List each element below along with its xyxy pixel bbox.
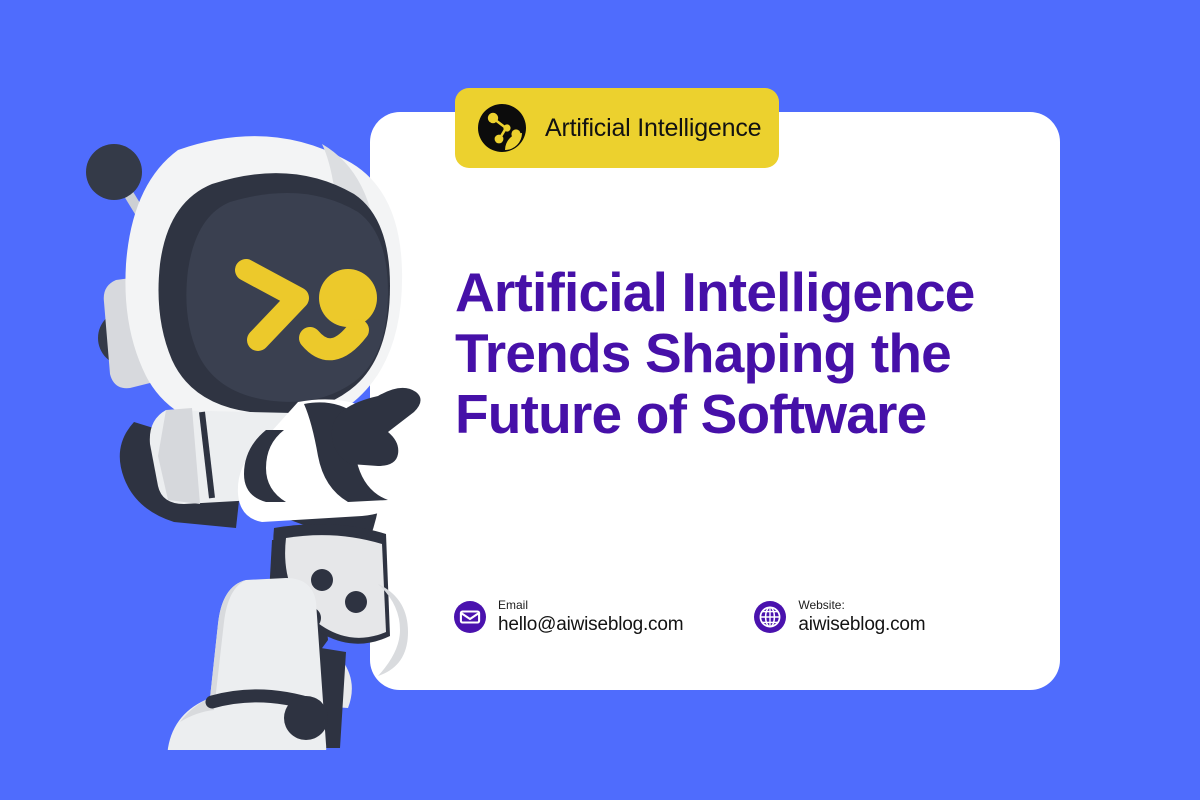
envelope-icon <box>453 600 487 634</box>
contact-email-text: Email hello@aiwiseblog.com <box>498 598 683 637</box>
banner-canvas: Artificial Intelligence Artificial Intel… <box>0 0 1200 800</box>
contact-email-value: hello@aiwiseblog.com <box>498 613 683 637</box>
contact-email[interactable]: Email hello@aiwiseblog.com <box>453 598 683 637</box>
contact-email-label: Email <box>498 598 683 613</box>
page-title: Artificial Intelligence Trends Shaping t… <box>455 262 1000 445</box>
contact-website-text: Website: aiwiseblog.com <box>798 598 925 637</box>
astronaut-robot-mascot <box>60 110 460 750</box>
globe-icon <box>753 600 787 634</box>
category-badge-label: Artificial Intelligence <box>545 114 761 143</box>
contact-row: Email hello@aiwiseblog.com Website: aiwi… <box>453 598 925 637</box>
contact-website[interactable]: Website: aiwiseblog.com <box>753 598 925 637</box>
contact-website-label: Website: <box>798 598 925 613</box>
category-badge[interactable]: Artificial Intelligence <box>455 88 779 168</box>
ai-network-nodes-icon <box>477 103 527 153</box>
contact-website-value: aiwiseblog.com <box>798 613 925 637</box>
